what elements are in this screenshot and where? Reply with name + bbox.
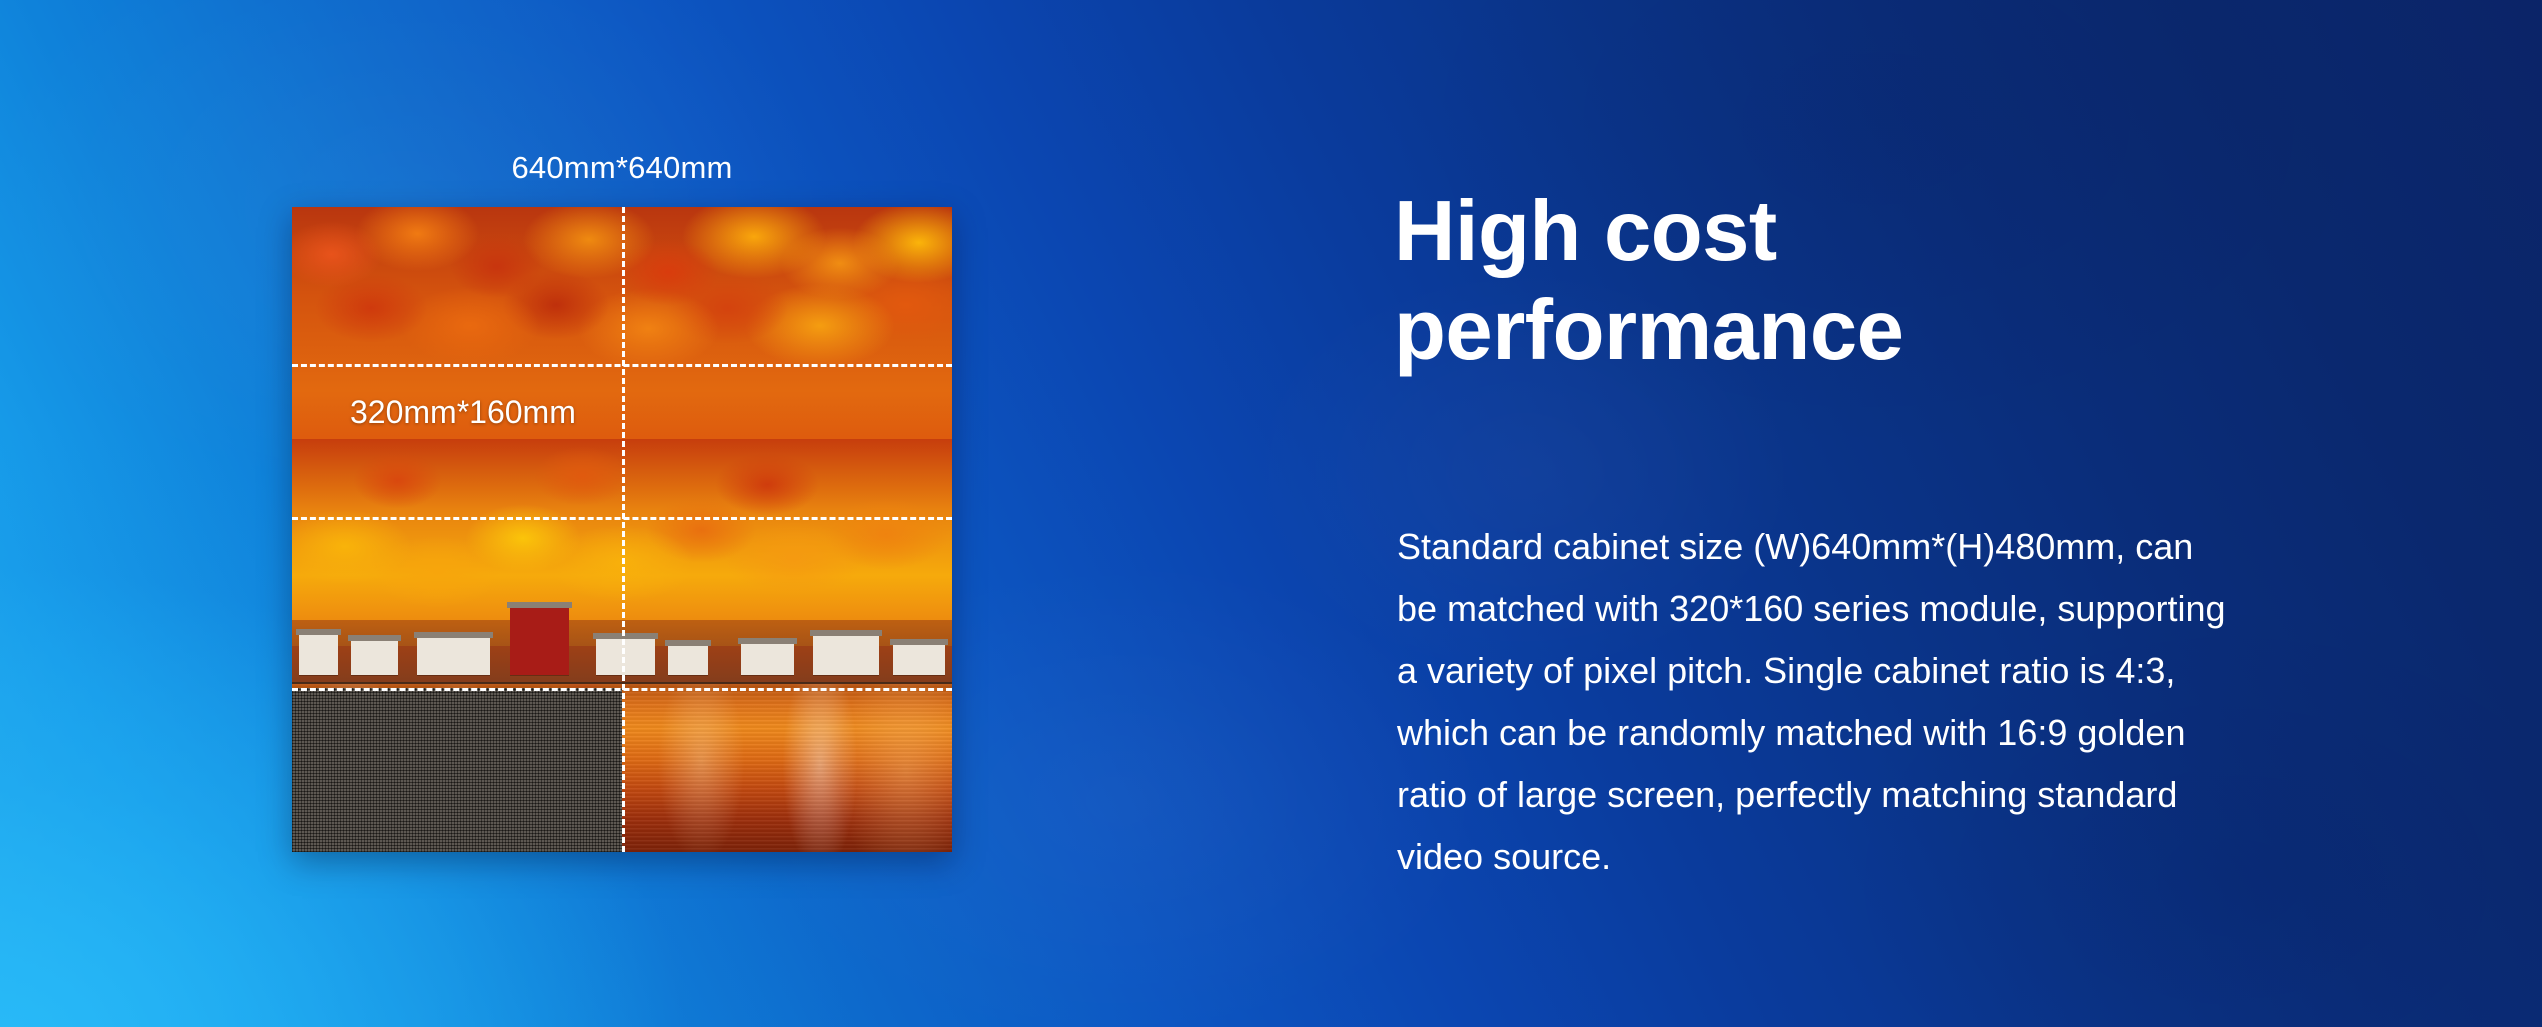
- led-module-dark-panel: [292, 688, 622, 852]
- photo-house: [417, 637, 490, 675]
- photo-house: [893, 644, 946, 675]
- description-paragraph: Standard cabinet size (W)640mm*(H)480mm,…: [1397, 516, 2447, 888]
- cabinet-visual-area: 640mm*640mm: [0, 0, 1260, 1027]
- module-dimension-label: 320mm*160mm: [350, 396, 576, 428]
- autumn-lake-photo: [292, 207, 952, 852]
- photo-house: [596, 638, 655, 675]
- cabinet-dimension-label: 640mm*640mm: [292, 152, 952, 183]
- photo-house: [351, 640, 397, 675]
- paragraph-line: video source.: [1397, 826, 2447, 888]
- headline-line: High cost: [1394, 183, 1903, 282]
- photo-shoreline: [292, 620, 952, 691]
- paragraph-line: a variety of pixel pitch. Single cabinet…: [1397, 640, 2447, 702]
- photo-house: [741, 643, 794, 676]
- photo-house: [668, 645, 708, 675]
- copy-block: High cost performance Standard cabinet s…: [1394, 0, 2454, 1027]
- paragraph-line: Standard cabinet size (W)640mm*(H)480mm,…: [1397, 516, 2447, 578]
- paragraph-line: which can be randomly matched with 16:9 …: [1397, 702, 2447, 764]
- photo-red-barn: [510, 607, 569, 675]
- paragraph-line: be matched with 320*160 series module, s…: [1397, 578, 2447, 640]
- paragraph-line: ratio of large screen, perfectly matchin…: [1397, 764, 2447, 826]
- led-screen-preview: 320mm*160mm: [292, 207, 952, 852]
- photo-mid-foliage: [292, 439, 952, 645]
- photo-house: [299, 634, 339, 675]
- headline-line: performance: [1394, 282, 1903, 381]
- page-title: High cost performance: [1394, 183, 1903, 380]
- product-feature-banner: 640mm*640mm: [0, 0, 2542, 1027]
- photo-house: [813, 635, 879, 675]
